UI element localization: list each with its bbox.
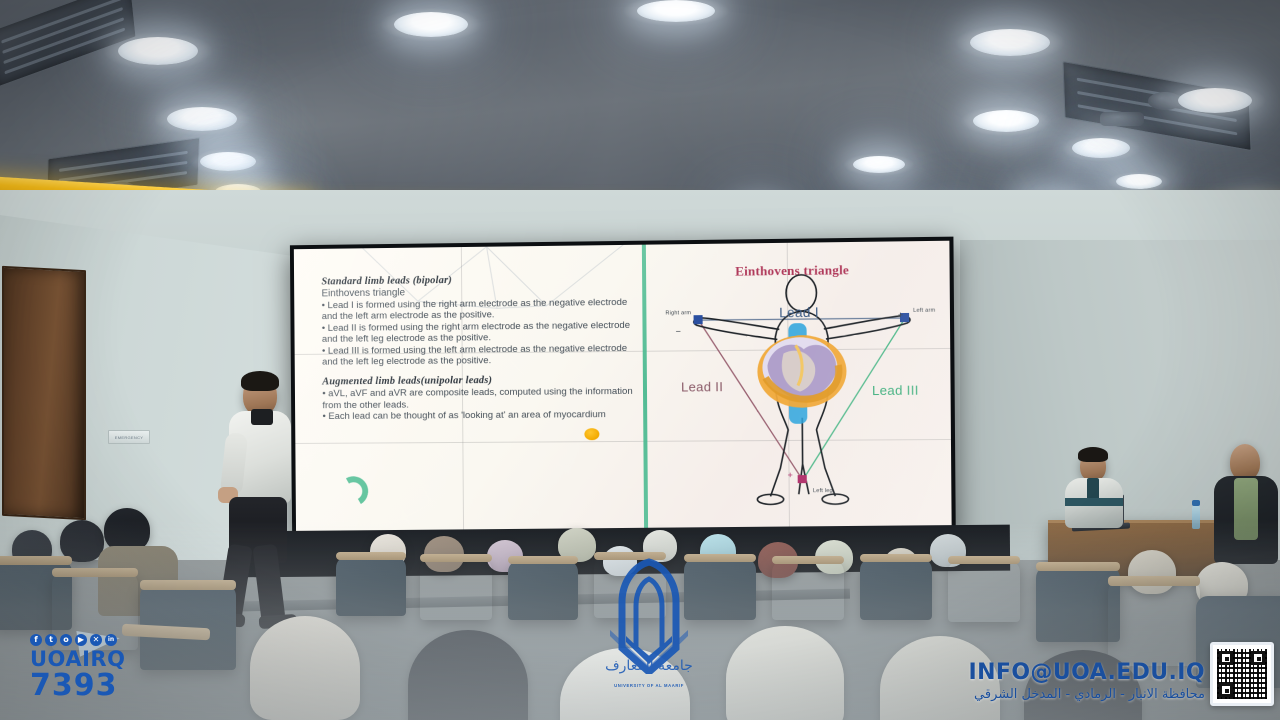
auditorium-seat[interactable]: [336, 556, 406, 616]
audience-head-front: [250, 616, 360, 720]
seat-armrest: [1036, 562, 1120, 571]
slide-content: Standard limb leads (bipolar) Einthovens…: [294, 241, 952, 538]
water-bottle-cap: [1192, 500, 1200, 506]
entrance-door[interactable]: [2, 266, 86, 520]
electrode-label-left-arm: Left arm: [913, 308, 935, 314]
linkedin-icon[interactable]: in: [105, 634, 117, 646]
ceiling-light: [200, 152, 256, 171]
facebook-icon[interactable]: f: [30, 634, 42, 646]
electrode-sign-left-arm: +: [898, 310, 904, 320]
ceiling-light: [1072, 138, 1130, 158]
electrode-sign-right-arm: −: [676, 326, 682, 336]
electrode-label-left-leg: Left leg: [813, 488, 833, 494]
ceiling-light: [637, 0, 715, 22]
seat-armrest: [508, 556, 578, 564]
seat-armrest: [1108, 576, 1200, 586]
brand-block: f t o ▶ ✕ in UOAIRQ 7393: [30, 634, 125, 701]
youtube-icon[interactable]: ▶: [75, 634, 87, 646]
seat-armrest: [860, 554, 932, 562]
qr-eye-bl: [1219, 683, 1233, 697]
standing-man-head: [1230, 444, 1260, 480]
slide-dot-decor: [584, 428, 599, 440]
telegram-icon[interactable]: t: [45, 634, 57, 646]
social-icons-row: f t o ▶ ✕ in: [30, 634, 125, 646]
lead-label-3: Lead III: [872, 383, 919, 399]
slide-bullet: • Lead II is formed using the right arm …: [322, 320, 637, 346]
auditorium-seat[interactable]: [1108, 580, 1200, 666]
ceiling-light: [1178, 88, 1252, 113]
water-bottle: [1192, 505, 1200, 529]
lecture-hall-photo: EMERGENCY Standard limb leads (bipolar) …: [0, 0, 1280, 720]
ceiling-light: [167, 107, 237, 131]
ceiling-light: [1116, 174, 1162, 189]
university-logo-watermark: جامعة المعارف UNIVERSITY OF AL MAARIF: [600, 556, 698, 686]
slide-left-column: Standard limb leads (bipolar) Einthovens…: [321, 273, 637, 423]
logo-arabic-text: جامعة المعارف: [600, 658, 698, 674]
standing-man: [1212, 444, 1280, 564]
qr-eye-tr: [1251, 651, 1265, 665]
auditorium-seat[interactable]: [508, 560, 578, 620]
seat-armrest: [420, 554, 492, 562]
slide-bullet: • Each lead can be thought of as 'lookin…: [322, 409, 637, 423]
qr-eye-tl: [1219, 651, 1233, 665]
contact-block: INFO@UOA.EDU.IQ محافظة الانبار - الرمادي…: [969, 660, 1206, 702]
wall-sign: EMERGENCY: [108, 430, 150, 444]
ceiling-light: [973, 110, 1039, 132]
logo-mark-icon: [600, 556, 698, 674]
twitter-icon[interactable]: ✕: [90, 634, 102, 646]
auditorium-seat[interactable]: [420, 558, 492, 620]
ceiling-light: [118, 37, 198, 65]
auditorium-seat[interactable]: [772, 560, 844, 620]
instagram-icon[interactable]: o: [60, 634, 72, 646]
seat-armrest: [336, 552, 406, 560]
ceiling-light: [394, 12, 468, 37]
logo-latin-text: UNIVERSITY OF AL MAARIF: [600, 683, 698, 688]
seat-armrest: [948, 556, 1020, 564]
slide-arc-decor: [336, 473, 372, 509]
ceiling-light: [853, 156, 905, 173]
contact-email[interactable]: INFO@UOA.EDU.IQ: [969, 660, 1206, 685]
slide-bullet: • Lead III is formed using the left arm …: [322, 342, 637, 368]
electrode-label-right-arm: Right arm: [665, 310, 691, 316]
seat-armrest: [0, 556, 72, 565]
slide-bullet: • aVL, aVF and aVR are composite leads, …: [322, 386, 637, 411]
projection-screen: Standard limb leads (bipolar) Einthovens…: [290, 237, 956, 542]
seat-armrest: [140, 580, 236, 590]
lead-label-1: Lead I: [779, 305, 819, 321]
electrode-sign-left-leg: +: [787, 470, 793, 480]
auditorium-seat[interactable]: [948, 560, 1020, 622]
qr-code[interactable]: [1210, 642, 1274, 706]
contact-address: محافظة الانبار - الرمادي - المدخل الشرقي: [969, 687, 1206, 702]
auditorium-seat[interactable]: [860, 558, 932, 620]
einthovens-triangle-diagram: Einthovens triangle: [650, 241, 952, 537]
ceiling-light: [970, 29, 1050, 56]
seated-operator: [1060, 450, 1140, 530]
brand-number: 7393: [30, 671, 125, 701]
slide-bullet: • Lead I is formed using the right arm e…: [322, 297, 637, 323]
ceiling-speaker: [1100, 112, 1144, 126]
lead-label-2: Lead II: [681, 379, 723, 394]
seat-armrest: [52, 568, 138, 577]
seat-armrest: [772, 556, 844, 564]
